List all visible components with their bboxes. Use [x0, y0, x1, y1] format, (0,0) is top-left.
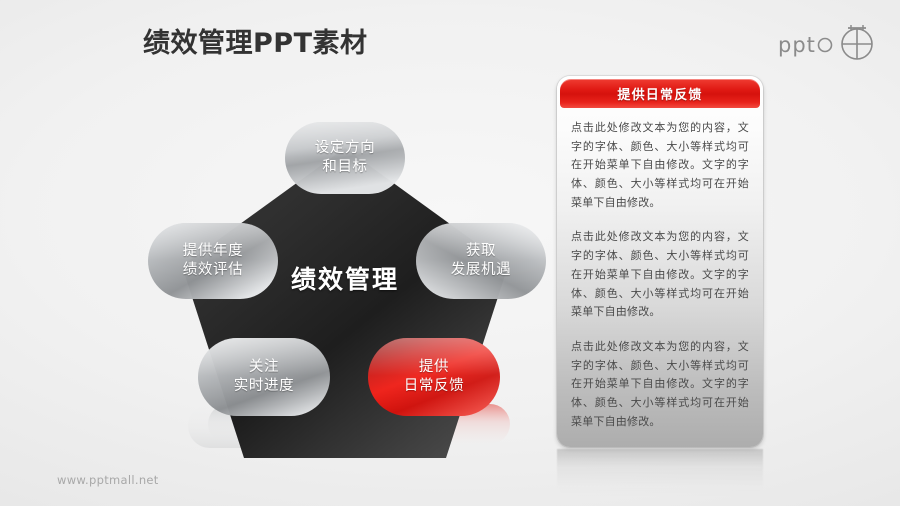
lobe-line-2: 实时进度 [234, 377, 294, 396]
info-panel-header-text: 提供日常反馈 [617, 84, 702, 103]
info-panel-reflection [557, 449, 763, 497]
lobe-label-track-progress[interactable]: 关注 实时进度 [198, 338, 330, 416]
info-paragraph: 点击此处修改文本为您的内容，文字的字体、颜色、大小等样式均可在开始菜单下自由修改… [571, 119, 749, 212]
svg-text:ppt: ppt [778, 33, 816, 57]
info-panel[interactable]: 提供日常反馈 点击此处修改文本为您的内容，文字的字体、颜色、大小等样式均可在开始… [557, 76, 763, 447]
lobe-line-1: 提供 [419, 358, 449, 377]
lobe-line-2: 日常反馈 [404, 377, 464, 396]
lobe-label-set-direction[interactable]: 设定方向 和目标 [285, 122, 405, 194]
lobe-line-1: 获取 [466, 242, 496, 261]
diagram-center-label: 绩效管理 [130, 260, 560, 296]
info-paragraph: 点击此处修改文本为您的内容，文字的字体、颜色、大小等样式均可在开始菜单下自由修改… [571, 228, 749, 321]
info-paragraph: 点击此处修改文本为您的内容，文字的字体、颜色、大小等样式均可在开始菜单下自由修改… [571, 338, 749, 431]
lobe-line-1: 提供年度 [183, 242, 243, 261]
slide-canvas: 绩效管理PPT素材 ppt [0, 0, 900, 506]
footer-watermark-url: www.pptmall.net [57, 473, 159, 487]
lobe-line-1: 设定方向 [315, 139, 375, 158]
page-title: 绩效管理PPT素材 [143, 21, 368, 60]
lobe-line-2: 和目标 [322, 158, 367, 177]
info-panel-header: 提供日常反馈 [560, 79, 760, 108]
lobe-label-daily-feedback[interactable]: 提供 日常反馈 [368, 338, 500, 416]
performance-pentagon-diagram: 设定方向 和目标 提供年度 绩效评估 获取 发展机遇 关注 实时进度 提供 日常… [130, 100, 560, 460]
info-panel-body: 点击此处修改文本为您的内容，文字的字体、颜色、大小等样式均可在开始菜单下自由修改… [557, 110, 763, 431]
lobe-line-1: 关注 [249, 358, 279, 377]
pptmall-logo: ppt [778, 22, 882, 64]
